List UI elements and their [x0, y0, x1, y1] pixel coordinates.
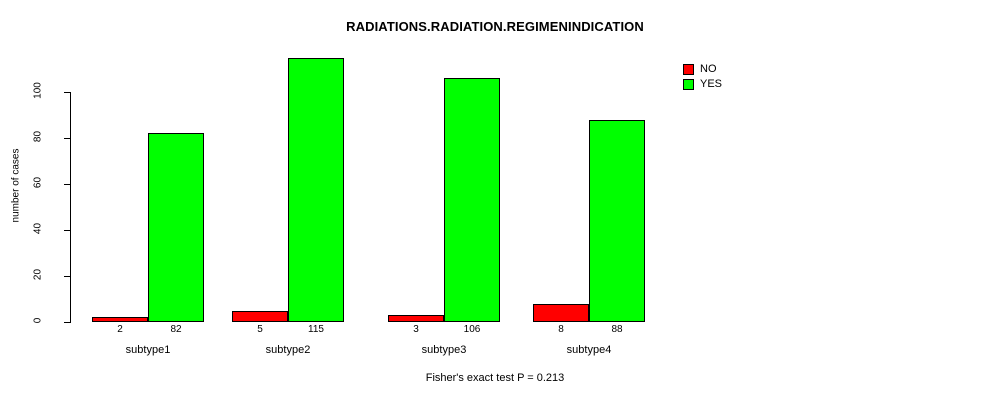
- y-axis-tick-label: 100: [33, 71, 44, 111]
- bar-subtype2-yes: [288, 58, 344, 323]
- chart-legend: NO YES: [683, 62, 722, 92]
- legend-swatch-no: [683, 64, 694, 75]
- y-axis-tick-label: 60: [33, 163, 44, 203]
- bar-value-label: 8: [533, 324, 589, 335]
- bar-subtype4-no: [533, 304, 589, 322]
- legend-swatch-yes: [683, 79, 694, 90]
- y-axis-title: number of cases: [11, 136, 22, 236]
- y-axis-tick: [64, 322, 70, 323]
- bar-subtype3-yes: [444, 78, 500, 322]
- bar-subtype1-no: [92, 317, 148, 322]
- chart-footnote: Fisher's exact test P = 0.213: [0, 372, 990, 384]
- bar-subtype4-yes: [589, 120, 645, 322]
- legend-label-yes: YES: [700, 79, 722, 90]
- y-axis-tick-label: 80: [33, 117, 44, 157]
- y-axis-tick-label: 20: [33, 255, 44, 295]
- legend-label-no: NO: [700, 64, 717, 75]
- x-axis-group-label-subtype1: subtype1: [83, 344, 213, 356]
- y-axis-tick: [64, 184, 70, 185]
- legend-item-yes: YES: [683, 77, 722, 92]
- y-axis-tick: [64, 92, 70, 93]
- x-axis-group-label-subtype4: subtype4: [524, 344, 654, 356]
- chart-title: RADIATIONS.RADIATION.REGIMENINDICATION: [0, 19, 990, 34]
- x-axis-group-label-subtype2: subtype2: [223, 344, 353, 356]
- legend-item-no: NO: [683, 62, 722, 77]
- bar-subtype1-yes: [148, 133, 204, 322]
- bar-value-label: 2: [92, 324, 148, 335]
- bar-subtype2-no: [232, 311, 288, 323]
- bar-value-label: 115: [288, 324, 344, 335]
- bar-value-label: 3: [388, 324, 444, 335]
- bar-value-label: 106: [444, 324, 500, 335]
- bar-value-label: 88: [589, 324, 645, 335]
- bar-value-label: 5: [232, 324, 288, 335]
- y-axis-line: [70, 92, 71, 323]
- y-axis-tick: [64, 276, 70, 277]
- y-axis-tick: [64, 138, 70, 139]
- x-axis-group-label-subtype3: subtype3: [379, 344, 509, 356]
- bar-value-label: 82: [148, 324, 204, 335]
- bar-subtype3-no: [388, 315, 444, 322]
- y-axis-tick-label: 0: [33, 301, 44, 341]
- bar-chart-figure: RADIATIONS.RADIATION.REGIMENINDICATION n…: [0, 0, 990, 400]
- y-axis-tick: [64, 230, 70, 231]
- y-axis-tick-label: 40: [33, 209, 44, 249]
